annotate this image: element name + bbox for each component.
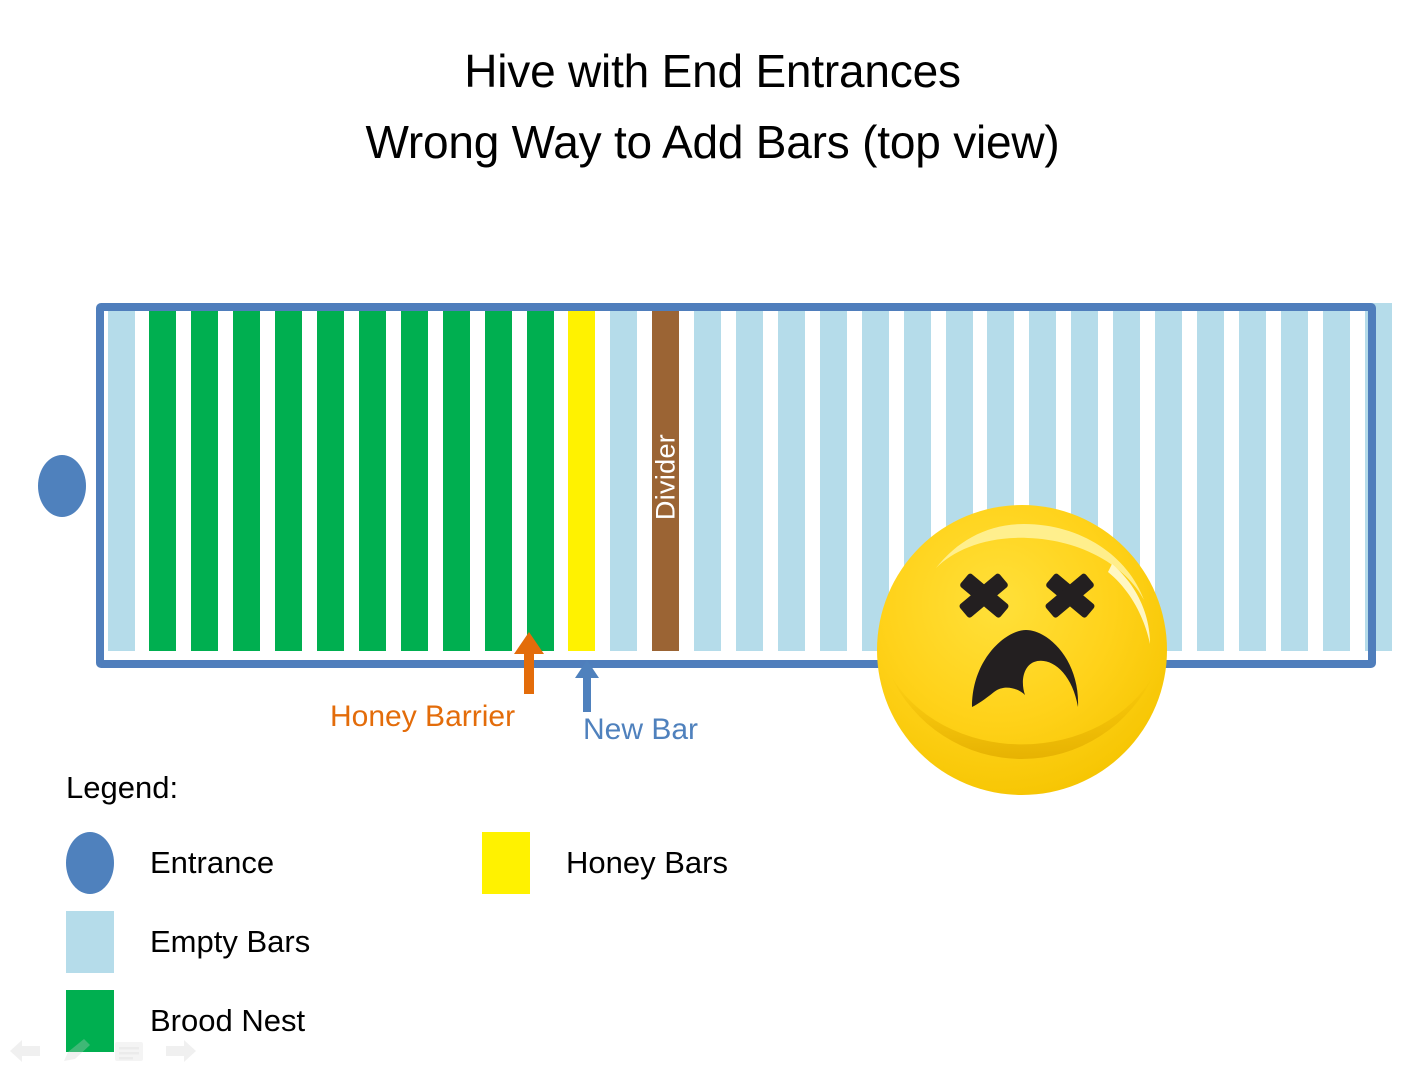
legend-label-honey-bars: Honey Bars <box>566 845 728 881</box>
legend-item-honey-bars: Honey Bars <box>482 832 728 894</box>
page-title: Hive with End Entrances Wrong Way to Add… <box>0 36 1425 179</box>
pen-icon[interactable] <box>60 1037 94 1065</box>
presentation-toolbar[interactable] <box>8 1037 198 1065</box>
legend-swatch-honey-bars <box>482 832 530 894</box>
previous-arrow-icon[interactable] <box>8 1037 42 1065</box>
up-arrow-icon <box>573 660 601 712</box>
honey-barrier-label: Honey Barrier <box>330 700 515 734</box>
hive-frame-outline <box>96 303 1376 668</box>
entrance-marker-left <box>38 455 86 517</box>
hive-diagram: Divider <box>96 303 1376 668</box>
legend-item-entrance: Entrance <box>66 832 274 894</box>
new-bar-label: New Bar <box>583 713 698 747</box>
title-line-1: Hive with End Entrances <box>0 36 1425 107</box>
menu-icon[interactable] <box>112 1037 146 1065</box>
title-line-2: Wrong Way to Add Bars (top view) <box>0 107 1425 178</box>
dizzy-sad-face-icon <box>876 504 1168 796</box>
legend-swatch-empty-bars <box>66 911 114 973</box>
legend-heading: Legend: <box>66 770 178 806</box>
up-arrow-icon <box>512 632 546 694</box>
legend-item-empty-bars: Empty Bars <box>66 911 310 973</box>
legend-swatch-entrance <box>66 832 114 894</box>
honey-barrier-arrow <box>512 632 546 694</box>
legend-label-empty-bars: Empty Bars <box>150 924 310 960</box>
legend-label-entrance: Entrance <box>150 845 274 881</box>
slide-canvas: Hive with End Entrances Wrong Way to Add… <box>0 0 1425 1073</box>
legend-label-brood-nest: Brood Nest <box>150 1003 305 1039</box>
new-bar-arrow <box>573 660 601 712</box>
next-arrow-icon[interactable] <box>164 1037 198 1065</box>
